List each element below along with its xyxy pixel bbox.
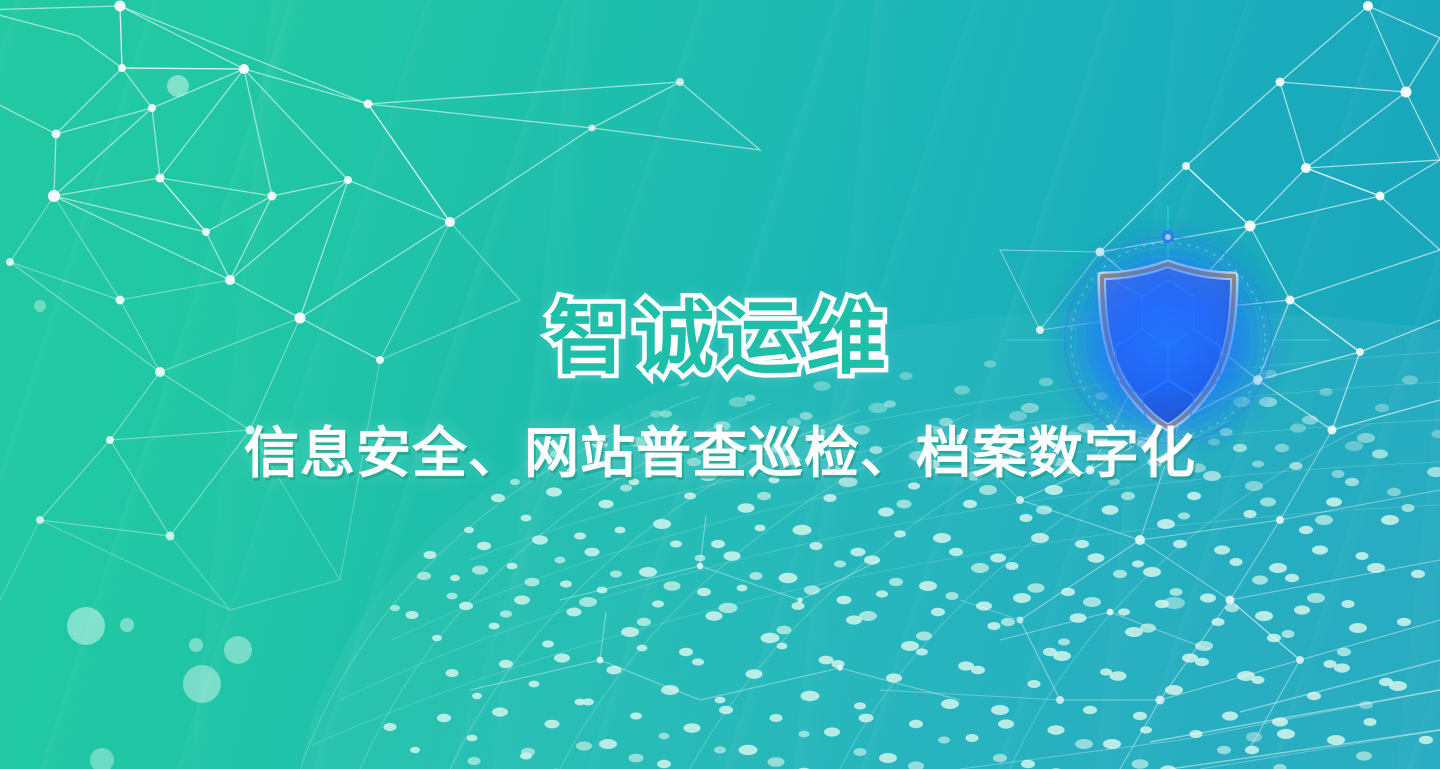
shield-glow [1048,220,1288,460]
promo-banner: 智诚运维 信息安全、网站普查巡检、档案数字化 [0,0,1440,769]
security-shield-emblem [1048,220,1288,460]
page-title: 智诚运维 [548,296,892,382]
